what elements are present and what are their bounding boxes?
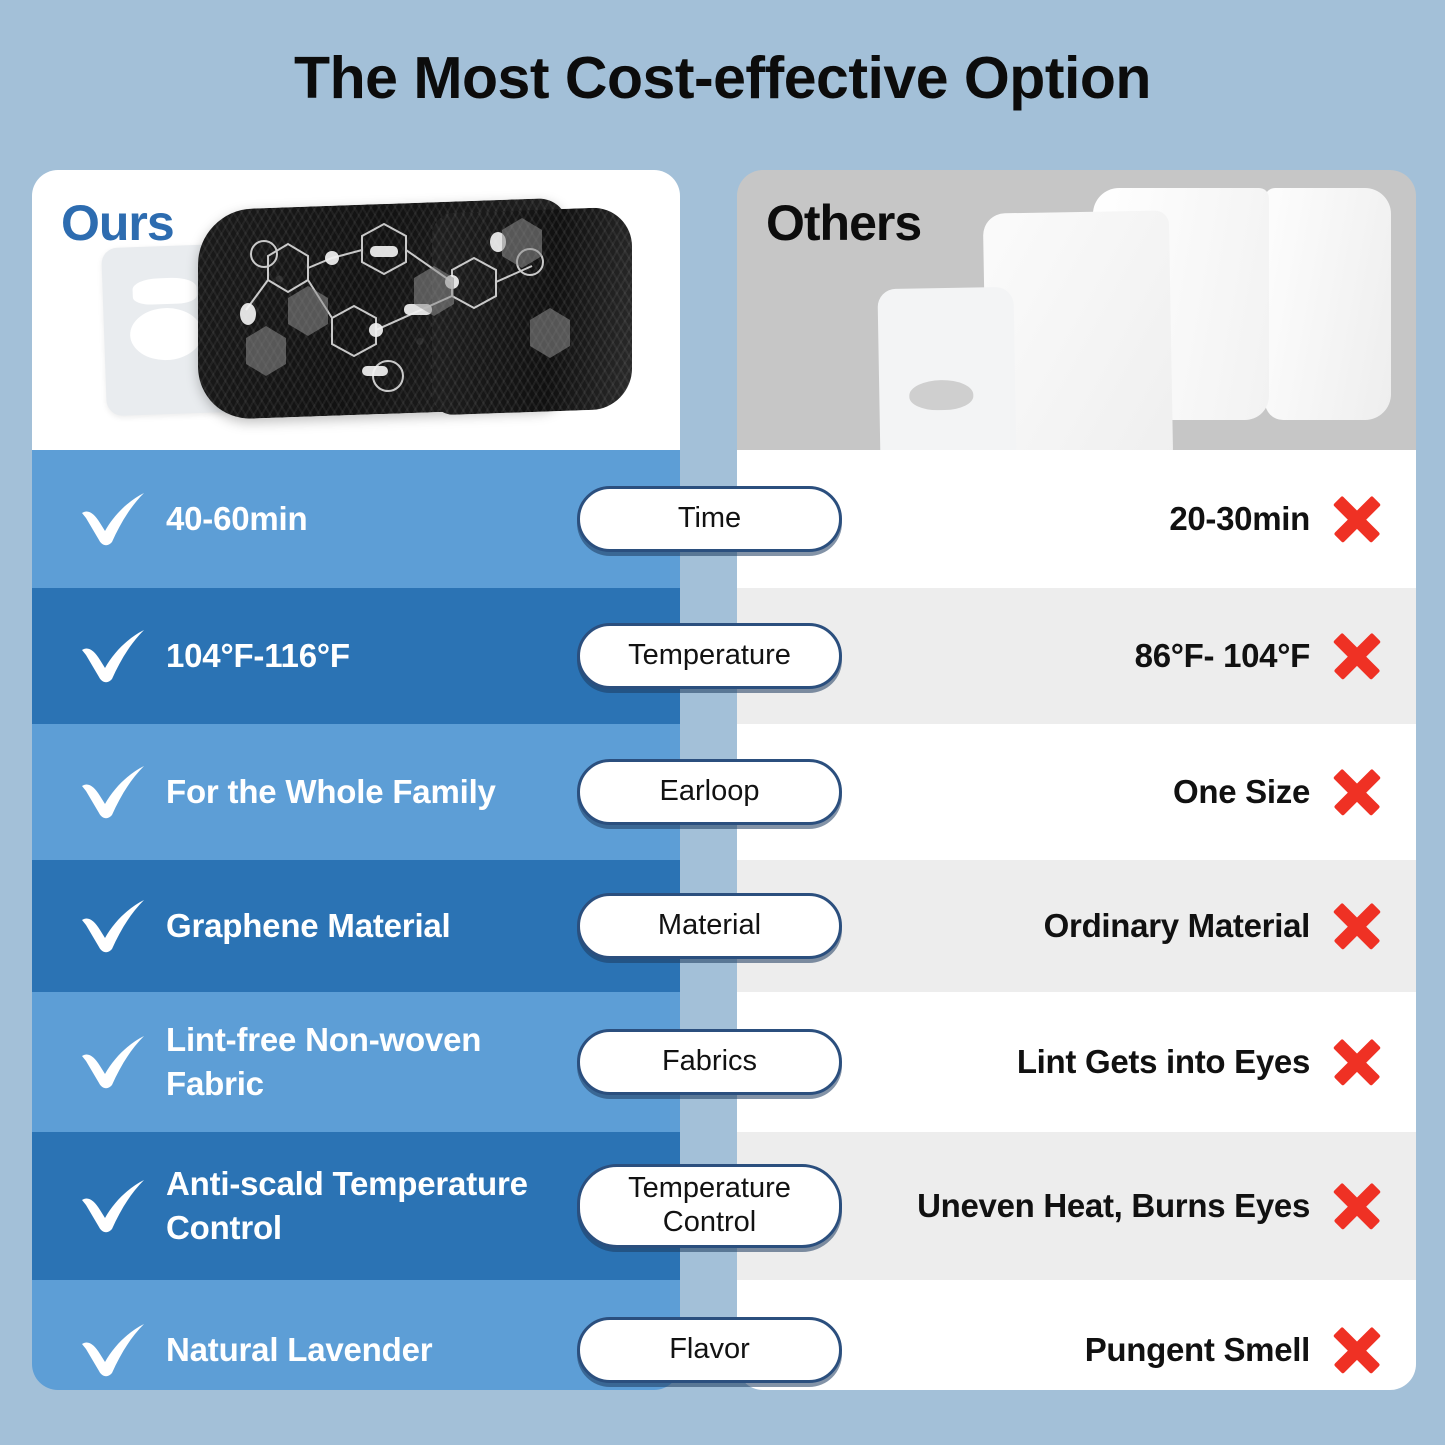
- ours-header-card: Ours: [32, 170, 680, 450]
- cross-icon: [1326, 491, 1388, 547]
- ours-value: Anti-scald Temperature Control: [166, 1162, 566, 1250]
- others-value: Pungent Smell: [1085, 1331, 1310, 1369]
- others-header-card: Others: [737, 170, 1416, 450]
- cross-icon: [1326, 898, 1388, 954]
- others-earloop-strip: [877, 287, 1016, 450]
- cross-icon: [1326, 491, 1388, 547]
- check-icon: [78, 491, 152, 547]
- ours-label: Ours: [61, 194, 174, 252]
- check-icon: [78, 898, 152, 954]
- check-icon: [78, 764, 152, 820]
- check-icon: [78, 628, 152, 684]
- cross-icon: [1326, 1322, 1388, 1378]
- check-icon: [78, 1034, 152, 1090]
- feature-pill-temperature[interactable]: Temperature: [577, 623, 842, 689]
- page-title: The Most Cost-effective Option: [0, 46, 1445, 111]
- cross-icon: [1326, 1034, 1388, 1090]
- ours-value: Lint-free Non-woven Fabric: [166, 1018, 566, 1106]
- others-value: Uneven Heat, Burns Eyes: [917, 1187, 1310, 1225]
- feature-pill-earloop[interactable]: Earloop: [577, 759, 842, 825]
- check-icon: [78, 1178, 152, 1234]
- cross-icon: [1326, 1178, 1388, 1234]
- cross-icon: [1326, 764, 1388, 820]
- others-label: Others: [766, 194, 921, 252]
- others-value: 20-30min: [1169, 500, 1310, 538]
- check-icon: [78, 1034, 152, 1090]
- others-value: Lint Gets into Eyes: [1017, 1043, 1310, 1081]
- cross-icon: [1326, 1322, 1388, 1378]
- feature-pill-flavor[interactable]: Flavor: [577, 1317, 842, 1383]
- ours-value: 40-60min: [166, 497, 307, 541]
- check-icon: [78, 898, 152, 954]
- others-value: 86°F- 104°F: [1135, 637, 1310, 675]
- check-icon: [78, 1178, 152, 1234]
- ours-value: Graphene Material: [166, 904, 451, 948]
- cross-icon: [1326, 628, 1388, 684]
- others-value: One Size: [1173, 773, 1310, 811]
- feature-pill-fabrics[interactable]: Fabrics: [577, 1029, 842, 1095]
- ours-value: 104°F-116°F: [166, 634, 350, 678]
- check-icon: [78, 764, 152, 820]
- feature-pill-material[interactable]: Material: [577, 893, 842, 959]
- cross-icon: [1326, 898, 1388, 954]
- cross-icon: [1326, 1178, 1388, 1234]
- others-value: Ordinary Material: [1044, 907, 1310, 945]
- check-icon: [78, 1322, 152, 1378]
- feature-pill-time[interactable]: Time: [577, 486, 842, 552]
- comparison-infographic: The Most Cost-effective Option Ours: [0, 0, 1445, 1445]
- feature-pill-temperature-control[interactable]: Temperature Control: [577, 1164, 842, 1248]
- ours-value: For the Whole Family: [166, 770, 496, 814]
- cross-icon: [1326, 764, 1388, 820]
- others-mask-right-leaf: [1265, 188, 1391, 420]
- ours-graphene-mask-right-leaf: [432, 207, 632, 416]
- cross-icon: [1326, 628, 1388, 684]
- check-icon: [78, 628, 152, 684]
- ours-value: Natural Lavender: [166, 1328, 432, 1372]
- cross-icon: [1326, 1034, 1388, 1090]
- check-icon: [78, 1322, 152, 1378]
- check-icon: [78, 491, 152, 547]
